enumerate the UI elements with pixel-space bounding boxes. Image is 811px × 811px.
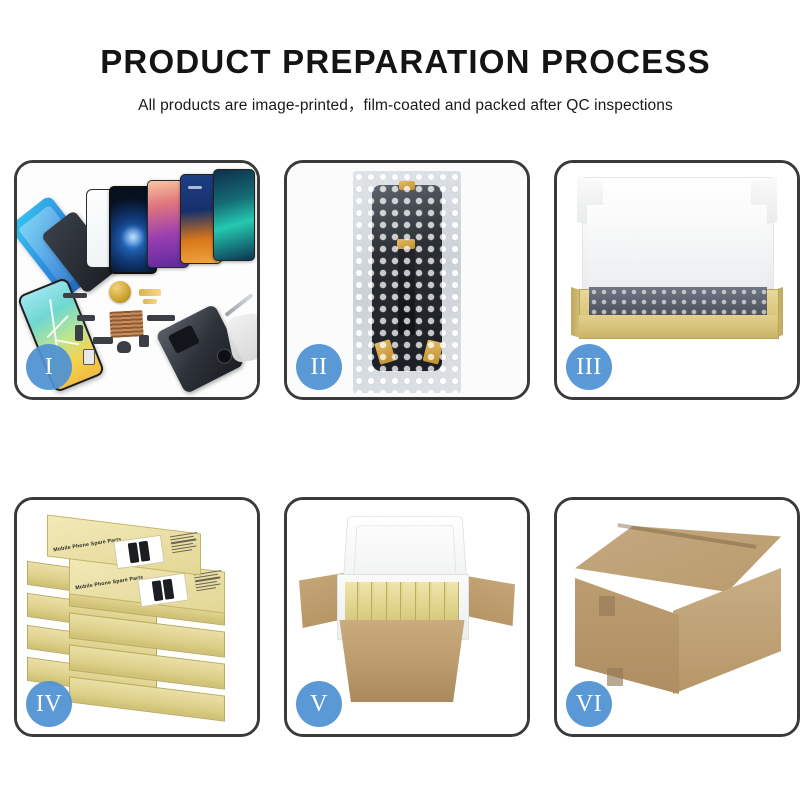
gold-coil-part-icon <box>109 281 131 303</box>
foam-sheet-icon <box>587 205 767 287</box>
step-card-3: III <box>554 160 800 400</box>
phone-teal-icon <box>213 169 255 261</box>
page-title: PRODUCT PREPARATION PROCESS <box>0 44 811 80</box>
header: PRODUCT PREPARATION PROCESS All products… <box>0 0 811 115</box>
step-badge-5: V <box>296 681 342 727</box>
step-badge-4: IV <box>26 681 72 727</box>
copper-grid-part-icon <box>109 310 143 338</box>
step-badge-6: VI <box>566 681 612 727</box>
page-subtitle: All products are image-printed，film-coat… <box>0 93 811 115</box>
step-badge-1: I <box>26 344 72 390</box>
step-card-6: VI <box>554 497 800 737</box>
process-steps-grid: I II <box>14 160 800 737</box>
carton-front-icon <box>575 578 679 694</box>
step-card-5: V <box>284 497 530 737</box>
step-card-1: I <box>14 160 260 400</box>
step-badge-2: II <box>296 344 342 390</box>
carton-body-icon <box>331 620 473 702</box>
step-badge-3: III <box>566 344 612 390</box>
step-card-2: II <box>284 160 530 400</box>
step-card-4: Mobile Phone Spare Parts Mobile Phone Sp… <box>14 497 260 737</box>
product-preparation-infographic: PRODUCT PREPARATION PROCESS All products… <box>0 0 811 811</box>
bubble-wrapped-contents-icon <box>589 287 767 315</box>
